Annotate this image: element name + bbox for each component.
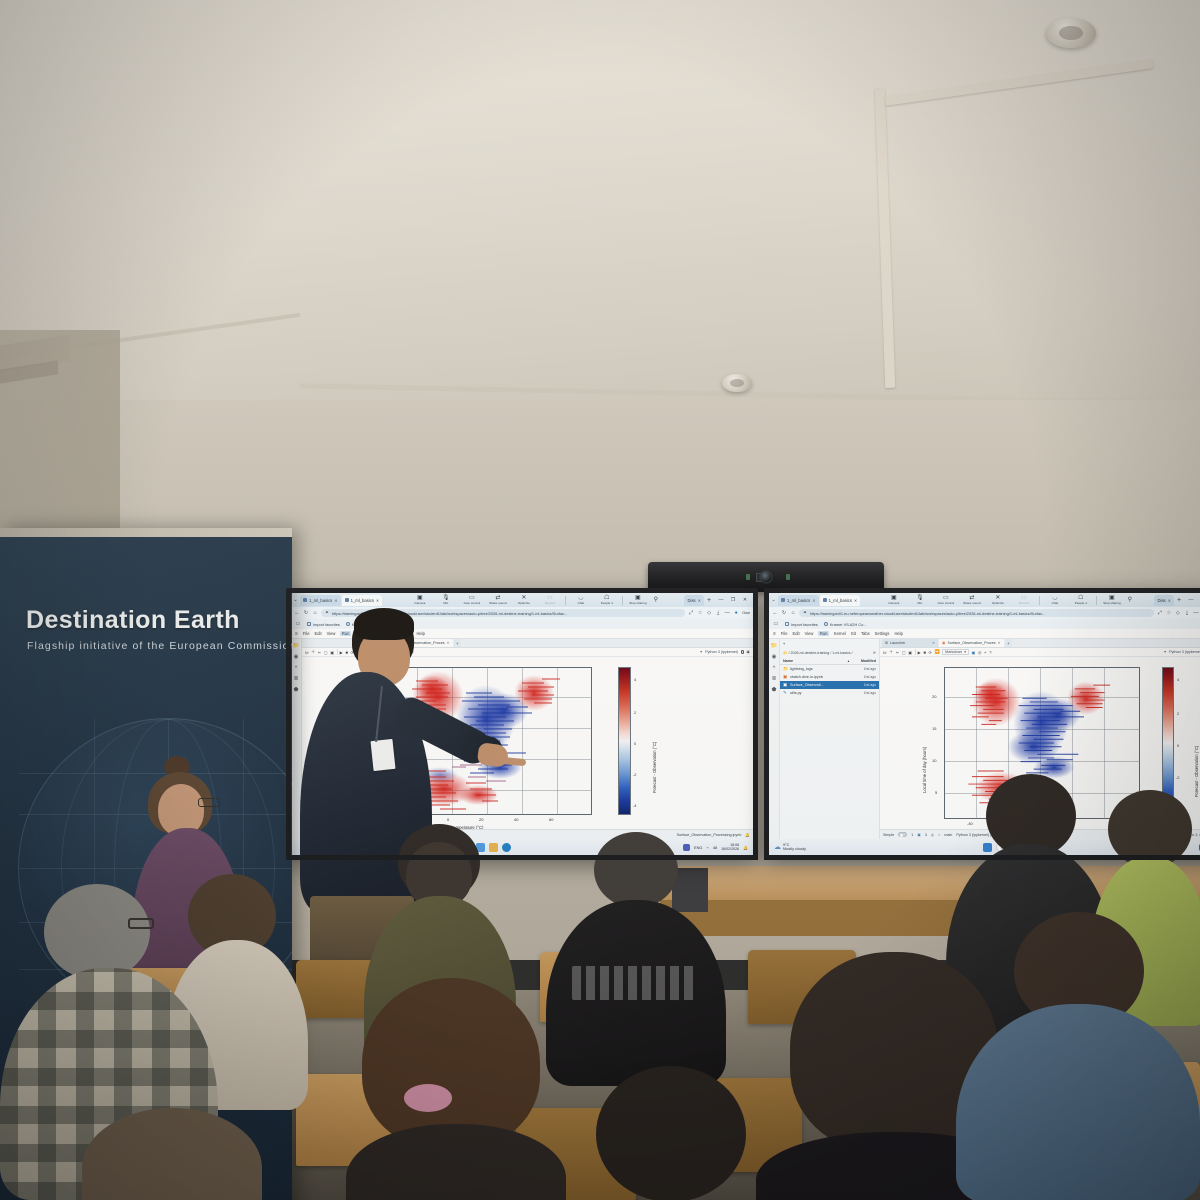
notebook-toolbar[interactable]: ⛁ ＋ ✂ ▢ ▣ ▶ ■ ⟳ ⏩ Markdown ▾ xyxy=(880,648,1200,657)
close-icon[interactable]: ✕ xyxy=(334,598,337,603)
divider xyxy=(622,596,623,605)
column-header-name[interactable]: Name xyxy=(783,659,847,663)
share-toolbar[interactable]: ▣ Camera 🎙 Mic ▭ Give control ⇄ Share so… xyxy=(861,595,1154,605)
menu-view[interactable]: View xyxy=(327,631,336,636)
name-badge xyxy=(370,739,395,771)
x-tick-label: 40 xyxy=(514,817,518,822)
cell-type-value: Markdown xyxy=(945,650,962,654)
colorbar xyxy=(618,667,631,815)
favorite-icon[interactable]: ☆ xyxy=(1166,610,1172,616)
jupyter-tab-label: Surface_Observation_Proces xyxy=(947,641,995,645)
new-tab-button[interactable]: + xyxy=(1175,597,1183,604)
menu-help[interactable]: Help xyxy=(894,631,902,636)
settings-icon[interactable]: ◎ xyxy=(931,833,934,837)
paste-icon[interactable]: ▣ xyxy=(330,650,334,655)
colorbar-tick-label: -2 xyxy=(633,772,636,777)
smoke-detector-icon-2 xyxy=(722,374,752,392)
jupyter-icon xyxy=(781,598,785,602)
bookmarks-bar[interactable]: ▭ Import favorites Kramer VS-62H Co... xyxy=(769,619,1200,629)
stop-icon[interactable]: ■ xyxy=(345,650,348,655)
browser-tab-title: 1_ml_basics xyxy=(787,598,810,603)
share-btn-label: Stop sharing xyxy=(1103,602,1120,605)
bookmark-import-favorites[interactable]: Import favorites xyxy=(307,622,340,627)
status-right: Surface_Observation_Processing.ipynb 🔔 xyxy=(677,833,750,837)
copy-icon[interactable]: ▢ xyxy=(902,650,906,655)
list-item[interactable]: ▣ xbatch-dive-io.ipynb 1hd ago xyxy=(780,673,879,681)
taskbar-lang[interactable]: ENG xyxy=(694,845,702,850)
new-tab-button[interactable]: + xyxy=(705,597,713,604)
menu-view[interactable]: View xyxy=(805,631,814,636)
downloads-icon[interactable]: ⤓ xyxy=(715,610,721,617)
colorbar-tick-label: 2 xyxy=(634,710,636,715)
divider xyxy=(337,649,338,655)
share-btn-label: Record xyxy=(1019,602,1029,605)
volume-level[interactable]: 48 xyxy=(713,845,717,850)
chat-icon: ◡ xyxy=(1052,595,1057,601)
close-icon[interactable]: ✕ xyxy=(447,641,450,645)
record-button[interactable]: ▭ Record xyxy=(537,595,563,605)
cell-count: 1 xyxy=(911,833,913,837)
bell-icon[interactable]: 🔔 xyxy=(743,845,748,850)
colorbar-tick-label: 0 xyxy=(1177,743,1179,748)
menu-run[interactable]: Run xyxy=(340,631,351,636)
table-of-contents-icon[interactable]: ≣ xyxy=(294,676,299,682)
share-sound-button[interactable]: ⇄ Share sound xyxy=(959,595,985,605)
share-btn-label: Optimize xyxy=(992,602,1004,605)
extensions-icon[interactable]: — xyxy=(1193,610,1199,616)
jupyter-file-browser[interactable]: ⑂ 📁 / 2026-ml-destine-training / 1-ml-ba… xyxy=(780,639,880,839)
menu-run[interactable]: Run xyxy=(818,631,829,636)
hoodie-text xyxy=(572,966,698,1000)
file-name: xbatch-dive-io.ipynb xyxy=(790,675,848,679)
share-sound-button[interactable]: ⇄ Share sound xyxy=(485,595,511,605)
edge-icon[interactable] xyxy=(502,843,511,852)
file-modified: 1hd ago xyxy=(850,675,876,679)
close-icon[interactable]: ✕ xyxy=(376,598,379,603)
status-notebook-name: Surface_Observation_Processing.ipynb xyxy=(677,833,742,837)
menu-file[interactable]: File xyxy=(303,631,310,636)
people-button[interactable]: ☖ People 1 xyxy=(1068,595,1094,605)
start-icon[interactable] xyxy=(983,843,992,852)
people-icon: ☖ xyxy=(1078,595,1083,601)
close-icon[interactable]: ✕ xyxy=(854,598,857,603)
kernel-indicator[interactable]: ✦ Python 3 (ipykernel) ▣ xyxy=(700,650,750,654)
reload-icon[interactable]: ↻ xyxy=(781,610,787,616)
chevron-down-icon[interactable]: ⌄ xyxy=(769,597,778,603)
read-aloud-icon[interactable]: ⤢ xyxy=(1157,610,1163,617)
cell-type-select[interactable]: Markdown ▾ xyxy=(942,649,969,655)
favorite-icon[interactable]: ☆ xyxy=(697,610,703,616)
file-modified: 1hd ago xyxy=(850,691,876,695)
teams-icon[interactable] xyxy=(683,844,690,851)
tab-surface-observation-notebook[interactable]: ▣ Surface_Observation_Proces ✕ xyxy=(939,639,1004,647)
globe-icon xyxy=(346,622,350,626)
tab-launcher[interactable]: ⊞ Launcher ✕ xyxy=(882,639,938,647)
breadcrumb[interactable]: 📁 / 2026-ml-destine-training / 1-ml-basi… xyxy=(780,648,879,657)
list-item[interactable]: 📁 lightning_logs 1hd ago xyxy=(780,665,879,673)
browser-tabstrip[interactable]: ⌄ 1_ml_basics ✕ 1_ml_basics ✕ ▣ Camera xyxy=(291,593,753,607)
file-browser-icon[interactable]: 📁 xyxy=(293,643,300,649)
kernel-label: Python 3 (ipykernel) xyxy=(1169,650,1200,654)
banner-title: Destination Earth xyxy=(26,606,240,635)
meet-tab-title: Diss xyxy=(1157,598,1165,603)
meet-browser-tab[interactable]: Diss ✕ xyxy=(1154,595,1174,606)
notebook-icon: ▣ xyxy=(783,682,788,688)
stop-sharing-icon: ▣ xyxy=(1109,595,1115,601)
menu-file[interactable]: File xyxy=(781,631,788,636)
chat-icon: ◡ xyxy=(578,595,583,601)
divider xyxy=(1096,596,1097,605)
lecture-room-photo: ⌄ 1_ml_basics ✕ 1_ml_basics ✕ ▣ Camera xyxy=(0,0,1200,1200)
smoke-detector-icon xyxy=(1046,18,1096,48)
share-btn-label: Record xyxy=(545,602,555,605)
cell-count-2: 3 xyxy=(925,833,927,837)
kernel-indicator[interactable]: ✦ Python 3 (ipykernel) xyxy=(1164,650,1200,654)
share-btn-label: Camera xyxy=(414,602,425,605)
meet-tab-title: Diss xyxy=(687,598,695,603)
chevron-down-icon[interactable]: ⌄ xyxy=(291,597,300,603)
minimize-button[interactable]: — xyxy=(717,597,725,603)
maximize-button[interactable]: ❐ xyxy=(729,597,737,603)
menu-settings[interactable]: Settings xyxy=(875,631,890,636)
share-btn-label: Stop sharing xyxy=(629,602,646,605)
browser-tab-title: 1_ml_basics xyxy=(829,598,852,603)
git-branch-label: main xyxy=(944,833,952,837)
colorbar-tick-label: -4 xyxy=(633,803,636,808)
expand-icon[interactable]: ▣ xyxy=(747,650,750,654)
bell-icon[interactable]: 🔔 xyxy=(745,833,750,837)
refresh-icon[interactable]: ⟳ xyxy=(873,651,876,655)
jupyterlab-menubar[interactable]: ≡ File Edit View Run Kernel Git Tabs Set… xyxy=(769,629,1200,639)
save-icon[interactable]: ⛁ xyxy=(883,650,887,655)
home-icon[interactable]: ⌂ xyxy=(790,610,796,616)
add-cell-icon[interactable]: ＋ xyxy=(311,649,315,655)
eyeglasses-icon xyxy=(198,798,220,807)
debugger-icon[interactable]: ◎ xyxy=(978,650,982,655)
stop-sharing-button[interactable]: ▣ Stop sharing xyxy=(625,595,651,605)
banner-subtitle: Flagship initiative of the European Comm… xyxy=(27,640,292,652)
bookmark-label: Import favorites xyxy=(313,622,340,627)
variable-inspector-icon[interactable]: ▣ xyxy=(972,650,976,655)
bookmark-kramer[interactable]: Kramer VS-62H Co... xyxy=(824,622,867,627)
profile-label: Owe xyxy=(742,611,750,615)
stop-sharing-button[interactable]: ▣ Stop sharing xyxy=(1099,595,1125,605)
y-tick-label: 10 xyxy=(932,758,936,763)
explorer-icon[interactable] xyxy=(489,843,498,852)
camera-icon: ▣ xyxy=(891,595,897,601)
share-btn-label: Camera xyxy=(888,602,899,605)
browser-tab[interactable]: 1_ml_basics ✕ xyxy=(778,595,819,606)
give-control-button[interactable]: ▭ Give control xyxy=(459,595,485,605)
collections-icon[interactable]: ▭ xyxy=(773,621,779,627)
browser-tabstrip[interactable]: ⌄ 1_ml_basics ✕ 1_ml_basics ✕ ▣ Camera xyxy=(769,593,1200,607)
collections-icon[interactable]: ◇ xyxy=(1175,610,1181,616)
file-list-header[interactable]: Name ▲ Modified xyxy=(780,657,879,665)
colorbar-tick-label: 4 xyxy=(634,677,636,682)
minimize-button[interactable]: — xyxy=(1187,597,1195,603)
address-bar-url: https://trainingan01.eu.neferopeanweathe… xyxy=(810,611,1045,616)
x-tick-label: 60 xyxy=(549,817,553,822)
mic-icon: 🎙 xyxy=(916,595,924,601)
presenter-hair-front xyxy=(354,608,414,640)
share-btn-label: People 1 xyxy=(1075,602,1087,605)
paste-icon[interactable]: ▣ xyxy=(908,650,912,655)
branch-icon[interactable]: ⑃ xyxy=(938,833,940,837)
camera-icon: ▣ xyxy=(417,595,423,601)
simple-mode-toggle[interactable] xyxy=(898,832,907,837)
notebook-icon: ▣ xyxy=(783,674,788,680)
close-window-button[interactable]: ✕ xyxy=(741,597,749,603)
share-btn-label: Chat xyxy=(578,602,585,605)
close-icon[interactable]: ✕ xyxy=(1168,598,1171,603)
add-cell-icon[interactable]: ＋ xyxy=(889,649,893,655)
bookmark-import-favorites[interactable]: Import favorites xyxy=(785,622,818,627)
folder-icon xyxy=(785,622,789,626)
share-toolbar[interactable]: ▣ Camera 🎙 Mic ▭ Give control ⇄ Share so… xyxy=(383,595,684,605)
running-kernels-icon[interactable]: ◉ xyxy=(772,654,777,660)
avatar[interactable]: ● xyxy=(733,610,739,616)
collections-icon[interactable]: ▭ xyxy=(295,621,301,627)
chat-button[interactable]: ◡ Chat xyxy=(568,595,594,605)
file-browser-toolbar[interactable]: ⑂ xyxy=(780,639,879,648)
give-control-icon: ▭ xyxy=(469,595,475,601)
share-btn-label: Optimize xyxy=(518,602,530,605)
share-sound-icon: ⇄ xyxy=(495,595,500,601)
extensions-icon[interactable]: ⬟ xyxy=(294,687,299,693)
divider xyxy=(915,649,916,655)
notebook-icon: ▣ xyxy=(917,833,920,837)
jupyter-tab-label: Launcher xyxy=(890,641,905,645)
breadcrumb-path: 📁 / 2026-ml-destine-training / 1-ml-basi… xyxy=(783,651,853,655)
taskbar-weather-widget[interactable]: ☁ 9°C Mostly cloudy xyxy=(774,843,806,852)
hair xyxy=(594,832,678,908)
close-icon[interactable]: ✕ xyxy=(998,641,1001,645)
optimize-button[interactable]: ✕ Optimize xyxy=(985,595,1011,605)
camera-button[interactable]: ▣ Camera xyxy=(881,595,907,605)
close-icon[interactable]: ✕ xyxy=(812,598,815,603)
share-sound-icon: ⇄ xyxy=(969,595,974,601)
kernel-icon: ✦ xyxy=(1164,650,1167,654)
table-of-contents-icon[interactable]: ≣ xyxy=(772,676,777,682)
git-icon[interactable]: ⑃ xyxy=(294,665,297,671)
eyeglasses-icon xyxy=(128,918,154,929)
folder-icon xyxy=(307,622,311,626)
share-btn-label: Give control xyxy=(464,602,481,605)
network-icon[interactable]: ⌁ xyxy=(706,845,708,850)
git-icon[interactable]: ⑃ xyxy=(772,665,775,671)
share-btn-label: Mic xyxy=(443,602,448,605)
colorbar-tick-label: 4 xyxy=(1177,677,1179,682)
bookmark-label: Import favorites xyxy=(791,622,818,627)
hair xyxy=(596,1066,746,1200)
share-btn-label: Give control xyxy=(938,602,955,605)
folder-icon: 📁 xyxy=(783,666,788,672)
close-icon[interactable]: ✕ xyxy=(932,641,935,645)
hamburger-icon[interactable]: ≡ xyxy=(773,631,776,637)
x-tick-label: 0 xyxy=(447,817,449,822)
taskbar-tray[interactable]: ENG ⌁ 48 18:08 16/02/2026 🔔 xyxy=(683,843,748,852)
mic-icon: 🎙 xyxy=(442,595,450,601)
git-icon[interactable]: ⑃ xyxy=(984,650,987,655)
share-btn-label: Share sound xyxy=(963,602,981,605)
chat-button[interactable]: ◡ Chat xyxy=(1042,595,1068,605)
collections-icon[interactable]: ◇ xyxy=(706,610,712,616)
downloads-icon[interactable]: ⤓ xyxy=(1184,610,1190,617)
run-icon[interactable]: ▶ xyxy=(918,650,921,655)
hair xyxy=(44,884,150,980)
copy-icon[interactable]: ▢ xyxy=(324,650,328,655)
cut-icon[interactable]: ✂ xyxy=(896,650,900,655)
menu-tabs[interactable]: Tabs xyxy=(861,631,870,636)
jupyter-left-rail[interactable]: 📁 ◉ ⑃ ≣ ⬟ xyxy=(769,639,780,839)
browser-tab-active[interactable]: 1_ml_basics ✕ xyxy=(342,595,383,606)
y-tick-label: 15 xyxy=(932,726,936,731)
hair xyxy=(362,978,540,1148)
cut-icon[interactable]: ✂ xyxy=(318,650,322,655)
menu-edit[interactable]: Edit xyxy=(793,631,800,636)
colorbar-label: Forecast - Observation (°C) xyxy=(1194,746,1199,797)
give-control-icon: ▭ xyxy=(943,595,949,601)
file-name: lightning_logs xyxy=(790,667,848,671)
browser-tab-title: 1_ml_basics xyxy=(351,598,374,603)
lock-icon: ⚭ xyxy=(802,610,808,616)
hamburger-icon[interactable]: ≡ xyxy=(295,631,298,637)
file-modified: 1hd ago xyxy=(850,667,876,671)
launcher-icon: ⊞ xyxy=(885,641,888,645)
divider xyxy=(565,596,566,605)
camera-button[interactable]: ▣ Camera xyxy=(407,595,433,605)
x-tick-label: 20 xyxy=(479,817,483,822)
give-control-button[interactable]: ▭ Give control xyxy=(933,595,959,605)
stop-icon[interactable]: ■ xyxy=(923,650,926,655)
jupyter-icon xyxy=(345,598,349,602)
bookmark-label: Kramer VS-62H Co... xyxy=(830,622,867,627)
column-header-modified[interactable]: Modified xyxy=(850,659,876,663)
kernel-icon: ✦ xyxy=(700,650,703,654)
close-icon[interactable]: ✕ xyxy=(698,598,701,603)
menu-kernel[interactable]: Kernel xyxy=(834,631,846,636)
extensions-icon[interactable]: — xyxy=(724,610,730,616)
people-icon: ☖ xyxy=(604,595,609,601)
kernel-label: Python 3 (ipykernel) xyxy=(705,650,738,654)
extensions-icon[interactable]: ⬟ xyxy=(772,687,777,693)
people-button[interactable]: ☖ People 1 xyxy=(594,595,620,605)
colorbar-label: Forecast - Observation (°C) xyxy=(652,742,657,793)
hair-tie-icon xyxy=(404,1084,452,1112)
jupyter-icon xyxy=(303,598,307,602)
taskbar-clock[interactable]: 18:08 16/02/2026 xyxy=(721,843,739,852)
file-name: utils.py xyxy=(790,691,848,695)
file-modified: 1hd ago xyxy=(850,683,876,687)
stop-sharing-icon: ▣ xyxy=(635,595,641,601)
chevron-down-icon: ▾ xyxy=(964,650,966,654)
browser-navbar[interactable]: ← ↻ ⌂ ⚭ https://trainingan01.eu.neferope… xyxy=(769,607,1200,619)
optimize-button[interactable]: ✕ Optimize xyxy=(511,595,537,605)
back-icon[interactable]: ← xyxy=(294,610,300,616)
share-btn-label: Share sound xyxy=(489,602,507,605)
x-tick-label: -40 xyxy=(967,821,973,826)
globe-icon xyxy=(824,622,828,626)
pin-icon[interactable]: ⚲ xyxy=(651,597,661,603)
home-icon[interactable]: ⌂ xyxy=(312,610,318,616)
file-name: Surface_Observati... xyxy=(790,683,848,687)
share-btn-label: Mic xyxy=(917,602,922,605)
list-item-selected[interactable]: ▣ Surface_Observati... 1hd ago xyxy=(780,681,879,689)
address-bar[interactable]: ⚭ https://trainingan01.eu.neferopeanweat… xyxy=(799,609,1154,617)
optimize-icon: ✕ xyxy=(521,595,526,601)
python-icon: ✎ xyxy=(783,690,788,696)
pin-icon[interactable]: ⚲ xyxy=(1125,597,1135,603)
menu-git[interactable]: Git xyxy=(851,631,856,636)
run-icon[interactable]: ▶ xyxy=(340,650,343,655)
record-icon: ▭ xyxy=(1021,595,1027,601)
y-tick-label: 20 xyxy=(932,694,936,699)
notebook-icon: ▣ xyxy=(942,641,945,645)
cloud-icon: ☁ xyxy=(774,843,781,851)
meet-browser-tab[interactable]: Diss ✕ xyxy=(684,595,704,606)
camera-led-2 xyxy=(786,574,790,580)
share-btn-label: People 1 xyxy=(601,602,613,605)
lock-icon: ⚭ xyxy=(324,610,330,616)
taskbar-date: 16/02/2026 xyxy=(721,847,739,851)
camera-lens-icon xyxy=(760,571,773,584)
divider xyxy=(1039,596,1040,605)
status-simple-mode-label: Simple xyxy=(883,833,894,837)
banner-top-rail xyxy=(0,528,292,537)
colorbar-tick-label: 0 xyxy=(634,741,636,746)
record-icon: ▭ xyxy=(547,595,553,601)
menu-edit[interactable]: Edit xyxy=(315,631,322,636)
filter-icon[interactable]: ⑂ xyxy=(783,641,785,646)
browser-tab[interactable]: 1_ml_basics ✕ xyxy=(300,595,341,606)
restart-icon[interactable]: ⟳ xyxy=(928,650,932,655)
jupyter-icon xyxy=(823,598,827,602)
record-button[interactable]: ▭ Record xyxy=(1011,595,1037,605)
running-kernels-icon[interactable]: ◉ xyxy=(294,654,299,660)
menu-help[interactable]: Help xyxy=(416,631,424,636)
ceiling xyxy=(0,0,1200,420)
add-tab-button[interactable]: + xyxy=(454,639,461,647)
save-icon[interactable]: ⛁ xyxy=(305,650,309,655)
y-axis-label: Local time of day (hours) xyxy=(922,747,927,793)
kernel-idle-indicator xyxy=(741,650,745,654)
read-aloud-icon[interactable]: ⤢ xyxy=(688,610,694,617)
camera-led xyxy=(746,574,750,580)
weather-desc: Mostly cloudy xyxy=(783,847,806,851)
list-item[interactable]: ✎ utils.py 1hd ago xyxy=(780,689,879,697)
browser-tab-title: 1_ml_basics xyxy=(309,598,332,603)
optimize-icon: ✕ xyxy=(995,595,1000,601)
colorbar-tick-label: -2 xyxy=(1176,775,1179,780)
file-browser-icon[interactable]: 📁 xyxy=(771,643,778,649)
restart-run-all-icon[interactable]: ⏩ xyxy=(934,649,939,655)
back-icon[interactable]: ← xyxy=(772,610,778,616)
reload-icon[interactable]: ↻ xyxy=(303,610,309,616)
mic-button[interactable]: 🎙 Mic xyxy=(433,595,459,605)
add-tab-button[interactable]: + xyxy=(1005,639,1012,647)
help-icon[interactable]: ? xyxy=(989,650,991,655)
y-tick-label: 5 xyxy=(935,790,937,795)
mic-button[interactable]: 🎙 Mic xyxy=(907,595,933,605)
jupyter-tabbar[interactable]: ⊞ Launcher ✕ ▣ Surface_Observation_Proce… xyxy=(880,639,1200,648)
browser-tab-active[interactable]: 1_ml_basics ✕ xyxy=(820,595,861,606)
share-btn-label: Chat xyxy=(1052,602,1059,605)
colorbar-tick-label: 2 xyxy=(1177,711,1179,716)
